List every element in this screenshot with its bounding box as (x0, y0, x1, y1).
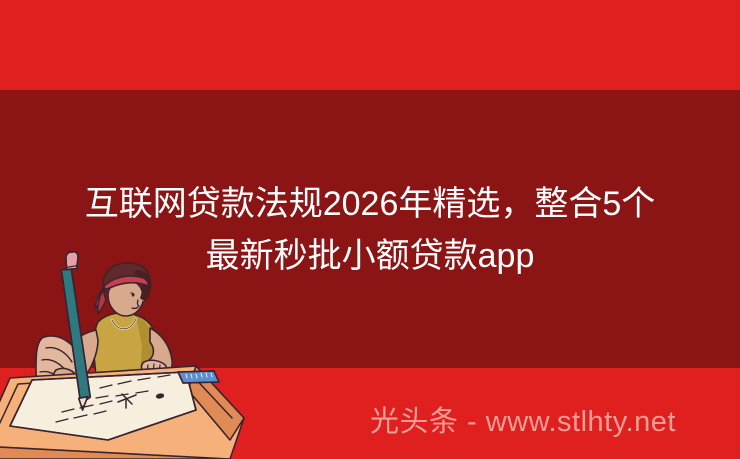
poster-image: 互联网贷款法规2026年精选，整合5个 最新秒批小额贷款app 光头条 - ww… (0, 0, 740, 459)
watermark-site-credit: 光头条 - www.stlhty.net (370, 402, 720, 442)
band-top-bright-red (0, 0, 740, 90)
page-title: 互联网贷款法规2026年精选，整合5个 最新秒批小额贷款app (0, 178, 740, 282)
